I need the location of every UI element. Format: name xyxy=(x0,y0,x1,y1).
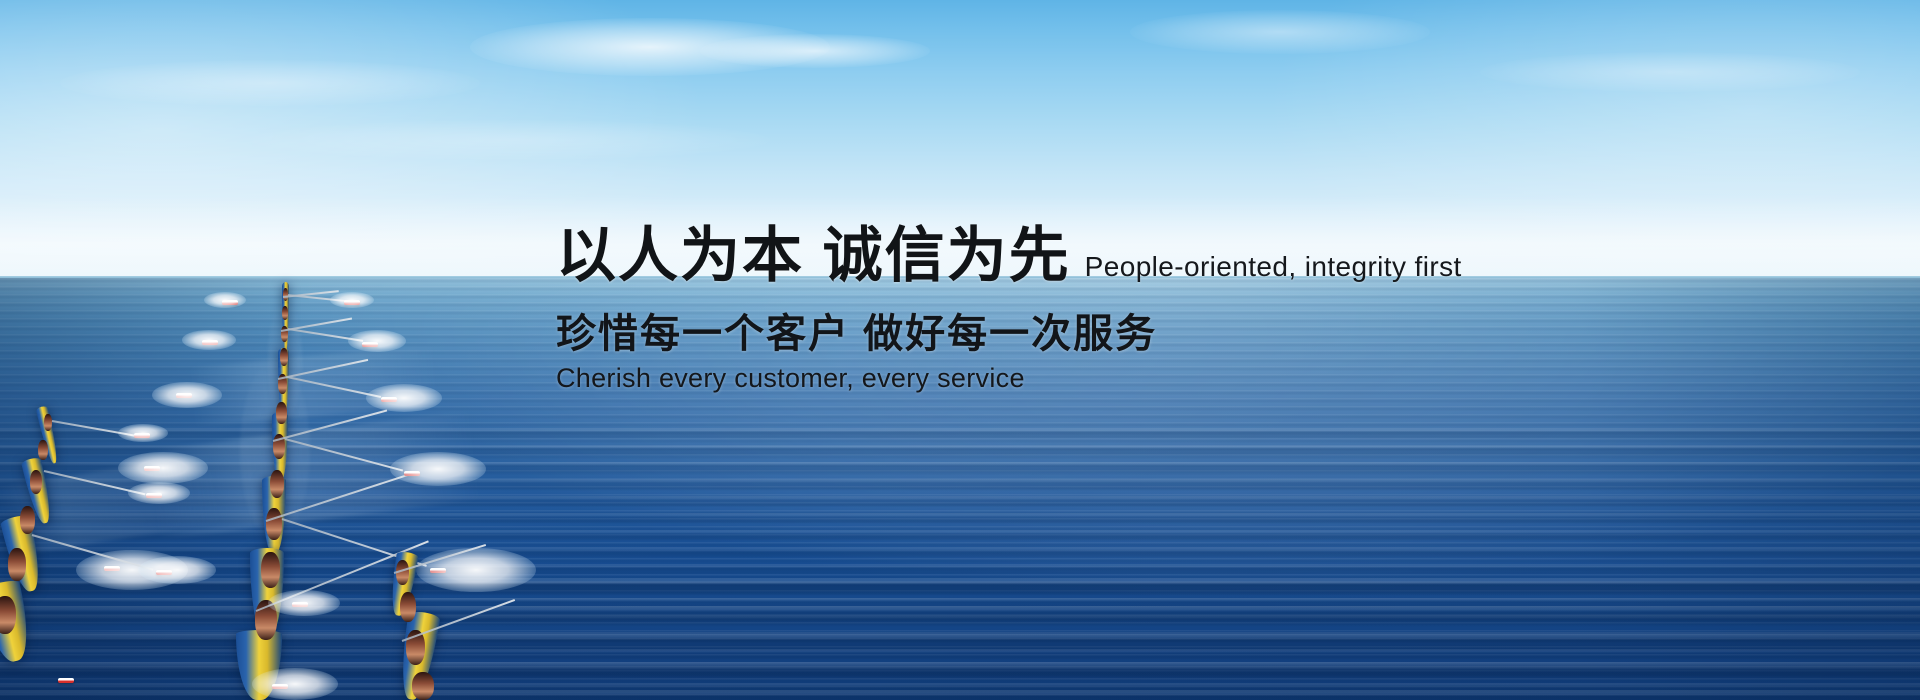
cloud-icon xyxy=(700,34,930,68)
subheadline-english: Cherish every customer, every service xyxy=(556,363,1556,394)
slogan-line-1: 以人为本 诚信为先 People-oriented, integrity fir… xyxy=(556,224,1556,287)
subheadline-chinese: 珍惜每一个客户 做好每一次服务 xyxy=(556,301,1556,359)
hero-banner: 以人为本 诚信为先 People-oriented, integrity fir… xyxy=(0,0,1920,700)
slogan-overlay: 以人为本 诚信为先 People-oriented, integrity fir… xyxy=(556,224,1556,394)
headline-chinese: 以人为本 诚信为先 xyxy=(556,224,1071,287)
headline-english: People-oriented, integrity first xyxy=(1085,251,1462,283)
